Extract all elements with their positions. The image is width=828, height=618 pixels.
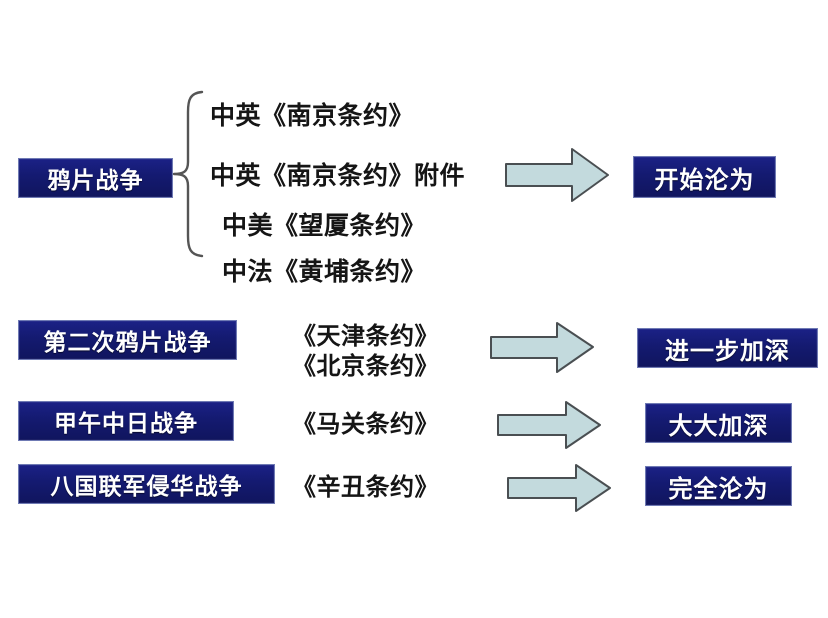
- result-label-deepen-further: 进一步加深: [637, 328, 818, 368]
- war-label-second-opium-war: 第二次鸦片战争: [18, 320, 237, 360]
- war-label-text: 第二次鸦片战争: [44, 323, 212, 357]
- treaty-text-beijing: 《北京条约》: [292, 352, 439, 382]
- treaty-text-tianjin: 《天津条约》: [292, 322, 439, 352]
- treaty-text-nanjing: 中英《南京条约》: [210, 96, 414, 132]
- result-label-begin-to-decline: 开始沦为: [633, 156, 776, 198]
- war-label-text: 八国联军侵华战争: [51, 467, 243, 501]
- arrow-icon-row-3: [496, 400, 602, 450]
- arrow-icon-row-4: [506, 463, 612, 513]
- result-label-greatly-deepen: 大大加深: [645, 403, 792, 443]
- arrow-icon-row-1: [504, 146, 610, 204]
- war-label-text: 鸦片战争: [48, 161, 144, 195]
- result-label-text: 开始沦为: [655, 160, 755, 195]
- result-label-text: 完全沦为: [669, 469, 769, 504]
- treaty-text-nanjing-annex: 中英《南京条约》附件: [210, 156, 465, 192]
- treaty-text-maguan: 《马关条约》: [292, 404, 439, 439]
- result-label-fully-reduced: 完全沦为: [645, 466, 792, 506]
- war-label-opium-war: 鸦片战争: [18, 158, 173, 198]
- diagram-canvas: 鸦片战争 中英《南京条约》 中英《南京条约》附件 中美《望厦条约》 中法《黄埔条…: [0, 0, 828, 618]
- treaty-text-xinchou: 《辛丑条约》: [292, 467, 439, 502]
- war-label-eight-nation-alliance-war: 八国联军侵华战争: [18, 464, 275, 504]
- arrow-icon-row-2: [489, 320, 595, 375]
- treaty-text-huangpu: 中法《黄埔条约》: [222, 252, 426, 288]
- war-label-sino-japanese-war: 甲午中日战争: [18, 401, 234, 441]
- war-label-text: 甲午中日战争: [54, 404, 198, 438]
- result-label-text: 大大加深: [669, 406, 769, 441]
- treaty-text-wangxia: 中美《望厦条约》: [222, 206, 426, 242]
- result-label-text: 进一步加深: [665, 331, 790, 366]
